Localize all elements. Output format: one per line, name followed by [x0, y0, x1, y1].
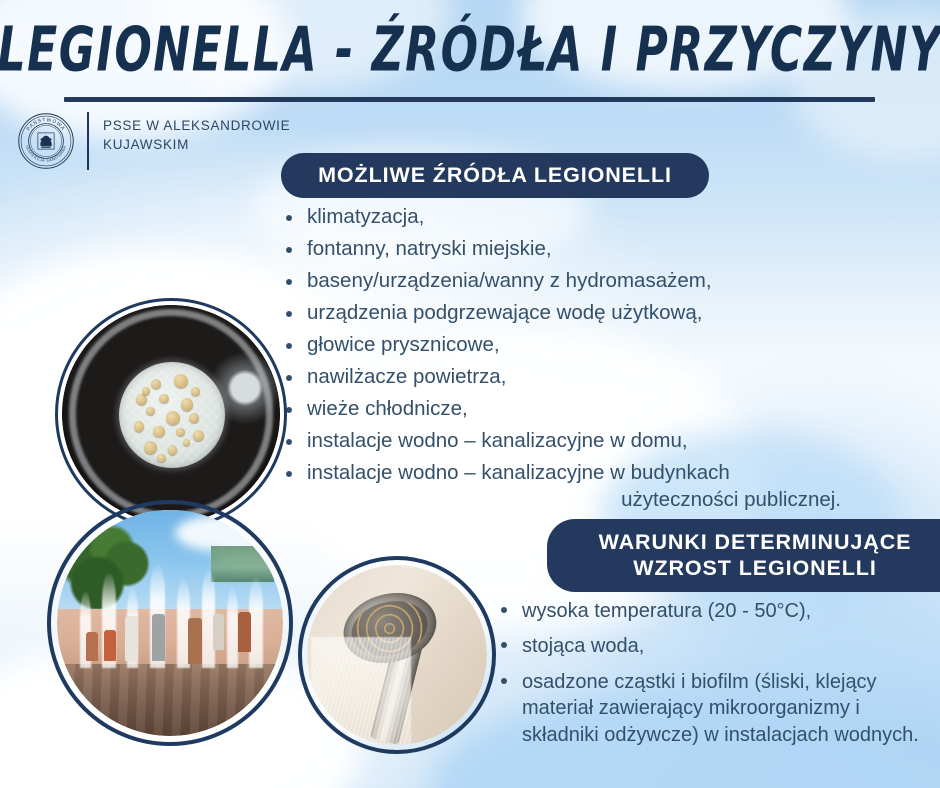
bacterial-colony	[144, 441, 157, 454]
badge-growth-conditions-line1: WARUNKI DETERMINUJĄCE	[599, 530, 912, 554]
list-item: wysoka temperatura (20 - 50°C),	[500, 598, 930, 624]
title-divider-rule	[64, 97, 875, 102]
bacterial-colony	[191, 387, 200, 396]
list-item-text: instalacje wodno – kanalizacyjne w domu,	[307, 429, 688, 452]
list-item-text: głowice prysznicowe,	[307, 333, 500, 356]
bacterial-colony	[181, 398, 194, 411]
photo-inner	[307, 565, 487, 745]
svg-text:PAŃSTWOWA: PAŃSTWOWA	[26, 117, 67, 132]
list-item: instalacje wodno – kanalizacyjne w budyn…	[285, 463, 925, 510]
running-water-stream	[311, 637, 412, 745]
list-item: klimatyzacja,	[285, 207, 925, 228]
fountain-background-structure	[211, 546, 274, 582]
list-item: fontanny, natryski miejskie,	[285, 239, 925, 260]
infographic-poster: LEGIONELLA - ŹRÓDŁA I PRZYCZYNY P	[0, 0, 940, 788]
bacterial-colony	[136, 394, 148, 406]
list-item-text: stojąca woda,	[522, 635, 644, 657]
badge-possible-sources: MOŻLIWE ŹRÓDŁA LEGIONELLI	[281, 153, 709, 198]
badge-growth-conditions-line2: WZROST LEGIONELLI	[633, 556, 876, 580]
list-item-text: fontanny, natryski miejskie,	[307, 237, 552, 260]
possible-sources-list: klimatyzacja, fontanny, natryski miejski…	[285, 207, 925, 522]
bacterial-colony	[189, 413, 199, 423]
list-item: stojąca woda,	[500, 633, 930, 659]
list-item-text: baseny/urządzenia/wanny z hydromasażem,	[307, 269, 712, 292]
image-city-splash-fountain-children	[57, 510, 283, 736]
badge-possible-sources-label: MOŻLIWE ŹRÓDŁA LEGIONELLI	[318, 163, 672, 188]
bacterial-colony	[151, 379, 162, 390]
badge-growth-conditions: WARUNKI DETERMINUJĄCE WZROST LEGIONELLI	[547, 519, 940, 592]
list-item: nawilżacze powietrza,	[285, 367, 925, 388]
list-item: osadzone cząstki i biofilm (śliski, klej…	[500, 669, 930, 748]
fountain-scene	[57, 510, 283, 736]
child-figure	[238, 612, 252, 653]
bacterial-colony	[183, 439, 190, 446]
page-title: LEGIONELLA - ŹRÓDŁA I PRZYCZYNY	[0, 18, 940, 83]
list-item: urządzenia podgrzewające wodę użytkową,	[285, 303, 925, 324]
bacterial-colony	[176, 428, 185, 437]
image-petri-dish-legionella-colonies	[62, 305, 280, 523]
list-item: instalacje wodno – kanalizacyjne w domu,	[285, 431, 925, 452]
badge-growth-conditions-label: WARUNKI DETERMINUJĄCE WZROST LEGIONELLI	[599, 530, 912, 581]
bacterial-colony	[146, 407, 155, 416]
child-figure	[86, 632, 97, 661]
bacterial-colony	[134, 421, 145, 432]
list-item: wieże chłodnicze,	[285, 399, 925, 420]
fountain-wet-pavement	[57, 664, 283, 736]
child-figure	[104, 630, 115, 662]
growth-conditions-list: wysoka temperatura (20 - 50°C), stojąca …	[500, 598, 930, 757]
bacterial-colony	[193, 430, 204, 441]
child-figure	[188, 618, 202, 663]
bacterial-colony	[174, 374, 188, 388]
child-figure	[125, 616, 139, 661]
child-figure	[213, 614, 224, 650]
list-item-text: wieże chłodnicze,	[307, 397, 468, 420]
water-jet	[249, 578, 263, 668]
list-item-text: wysoka temperatura (20 - 50°C),	[522, 600, 811, 622]
bacterial-colony	[168, 445, 178, 455]
image-shower-head-running-water	[307, 565, 487, 745]
bacterial-colony	[166, 411, 180, 425]
petri-filter-membrane	[119, 362, 226, 469]
photo-inner	[62, 305, 280, 523]
bacterial-colony	[157, 454, 166, 463]
child-figure	[152, 614, 166, 661]
list-item: baseny/urządzenia/wanny z hydromasażem,	[285, 271, 925, 292]
list-item-text: nawilżacze powietrza,	[307, 365, 506, 388]
organization-logo-block: PAŃSTWOWA INSPEKCJA SANITARNA PSSE W ALE…	[17, 112, 290, 170]
water-jet	[227, 587, 238, 668]
list-item-text: osadzone cząstki i biofilm (śliski, klej…	[522, 671, 919, 746]
list-item-text-continuation: użyteczności publicznej.	[307, 490, 925, 511]
organization-name: PSSE W ALEKSANDROWIE KUJAWSKIM	[103, 112, 290, 154]
bacterial-colony	[142, 387, 149, 394]
list-item-text: klimatyzacja,	[307, 205, 424, 228]
bacterial-colony	[159, 394, 169, 404]
list-item-text: instalacje wodno – kanalizacyjne w budyn…	[307, 461, 730, 484]
sanitary-inspection-emblem-icon: PAŃSTWOWA INSPEKCJA SANITARNA	[17, 112, 75, 170]
bacterial-colony	[153, 426, 165, 438]
list-item-text: urządzenia podgrzewające wodę użytkową,	[307, 301, 702, 324]
logo-divider	[87, 112, 89, 170]
photo-inner	[57, 510, 283, 736]
list-item: głowice prysznicowe,	[285, 335, 925, 356]
